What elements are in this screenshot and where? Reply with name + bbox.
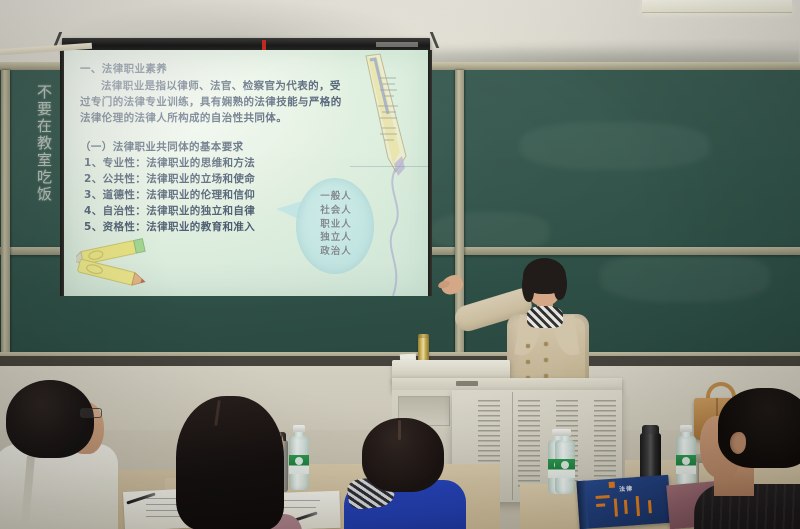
blue-book-accent — [648, 500, 652, 513]
brush-pen-decoration — [358, 52, 420, 182]
blue-book-accent — [596, 503, 605, 507]
chalk-smudge — [520, 122, 710, 170]
slide-bullet: 4、自治性：法律职业的独立和自律 — [80, 204, 350, 220]
student-hair — [718, 388, 800, 468]
black-thermos-cap — [642, 425, 659, 434]
screen-edge-right — [428, 50, 432, 296]
slide-subheading: （一）法律职业共同体的基本要求 — [80, 140, 350, 156]
lectern-badge — [456, 381, 478, 386]
chalk-smudge — [430, 212, 550, 252]
fluorescent-light — [642, 0, 792, 13]
presentation-slide: 一般人 社会人 职业人 独立人 政治人 一、法律职业素养 法律职业是指以律师、法… — [64, 50, 428, 296]
student-blue-top — [352, 418, 482, 529]
bottle-cap — [680, 425, 692, 432]
slide-paragraph: 法律职业是指以律师、法官、检察官为代表的，受过专门的法律专业训练，具有娴熟的法律… — [80, 79, 350, 127]
chalkboard-note: 不要在教室吃饭 — [18, 84, 52, 203]
wall-stain-secondary — [60, 0, 420, 40]
slide-heading: 一、法律职业素养 — [80, 62, 350, 78]
bottle-label-logo — [682, 457, 690, 465]
lectern-vent — [518, 400, 540, 488]
bottle-cap — [559, 429, 571, 436]
slide-bullet: 3、道德性：法律职业的伦理和信仰 — [80, 188, 350, 204]
bubble-line-5: 政治人 — [310, 245, 362, 259]
student-hair-part — [398, 420, 401, 440]
classroom-photo: 不要在教室吃饭 — [0, 0, 800, 529]
screen-red-marker — [262, 40, 266, 50]
screen-brand-logo — [376, 42, 418, 47]
student-long-hair — [176, 396, 306, 529]
slide-bullet: 5、资格性：法律职业的教育和准入 — [80, 220, 350, 236]
student-hair — [362, 418, 444, 492]
lectern-vent — [594, 400, 616, 488]
student-glasses — [80, 408, 102, 418]
slide-bullet: 2、公共性：法律职业的立场和使命 — [80, 172, 350, 188]
chalk-smudge — [600, 252, 770, 302]
coat-button — [544, 342, 548, 346]
student-ear — [730, 432, 746, 454]
bottle-label-logo — [561, 461, 569, 469]
pencils-decoration — [76, 234, 162, 292]
lecturer-scarf — [527, 306, 563, 328]
projector-screen: 一般人 社会人 职业人 独立人 政治人 一、法律职业素养 法律职业是指以律师、法… — [62, 38, 430, 300]
student-leather-jacket — [700, 388, 800, 529]
student-hair — [176, 396, 284, 529]
lectern-seam — [512, 392, 513, 500]
blue-book-accent — [624, 500, 628, 514]
blue-book-accent — [636, 496, 640, 516]
lecturer-hair-right — [554, 270, 567, 300]
blue-book-logo — [609, 482, 615, 488]
slide-bullet: 1、专业性：法律职业的思维和方法 — [80, 156, 350, 172]
chalkboard-left-rail — [1, 70, 10, 360]
coat-button — [526, 360, 530, 364]
blue-book-accent — [614, 498, 618, 516]
blue-textbook: 法律 — [576, 475, 671, 529]
blue-book-title: 法律 — [619, 481, 664, 493]
slide-divider-line — [350, 166, 428, 167]
student-white-jacket — [0, 380, 124, 529]
slide-spacer — [80, 127, 350, 138]
lecturer-hair-left — [522, 272, 534, 302]
blue-book-accent — [596, 495, 610, 499]
student-hair — [6, 380, 94, 458]
coat-button — [526, 344, 530, 348]
coat-button — [544, 358, 548, 362]
blue-book-spine — [576, 481, 588, 529]
ribbon-decoration — [380, 168, 410, 296]
slide-text-block: 一、法律职业素养 法律职业是指以律师、法官、检察官为代表的，受过专门的法律专业训… — [80, 62, 350, 236]
